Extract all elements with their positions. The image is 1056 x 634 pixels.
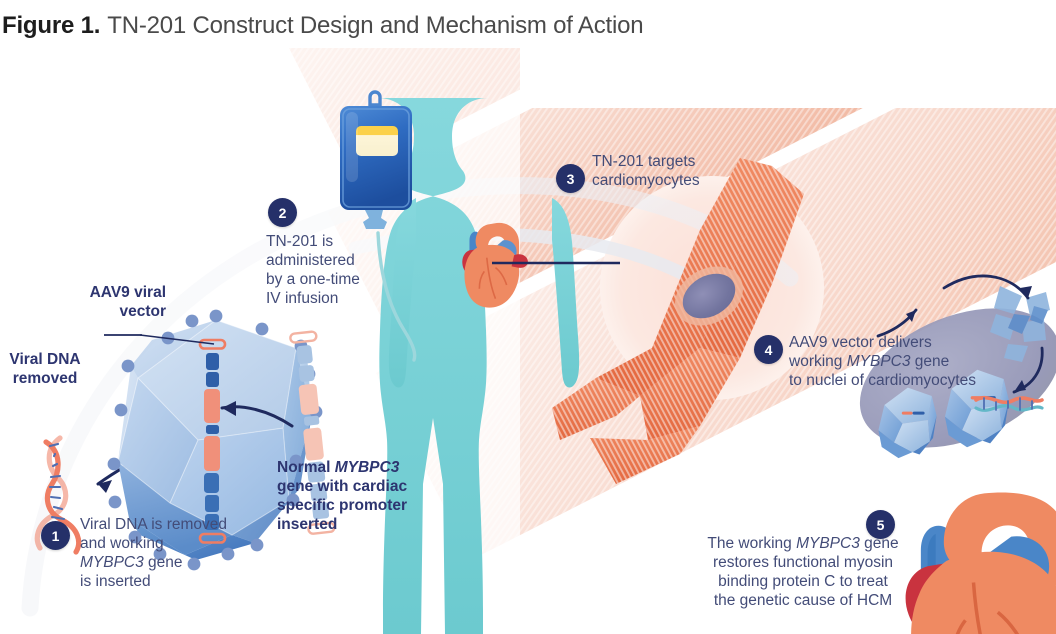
callout-line: Viral DNA is removed — [80, 516, 260, 535]
step-text-5: The working MYBPC3 generestores function… — [688, 535, 918, 611]
step-text-3: TN-201 targetscardiomyocytes — [592, 153, 752, 191]
step-badge-3-number: 3 — [567, 171, 575, 187]
figure-number: Figure 1. — [2, 12, 100, 40]
callout-line: by a one-time — [266, 271, 386, 290]
step-badge-2-number: 2 — [279, 205, 287, 221]
page-title: TN-201 Construct Design and Mechanism of… — [107, 12, 643, 40]
step-badge-2: 2 — [268, 198, 297, 227]
callout-line: TN-201 targets — [592, 153, 752, 172]
callout-line: to nuclei of cardiomyocytes — [789, 372, 1029, 391]
callout-line: the genetic cause of HCM — [688, 592, 918, 611]
step-badge-3: 3 — [556, 164, 585, 193]
callout-line: working MYBPC3 gene — [789, 353, 1029, 372]
step-text-4: AAV9 vector deliversworking MYBPC3 genet… — [789, 334, 1029, 391]
callout-line: administered — [266, 252, 386, 271]
step-badge-4: 4 — [754, 335, 783, 364]
callout-line: MYBPC3 gene — [80, 554, 260, 573]
cardiomyocyte-cell-icon — [552, 158, 804, 484]
label-viral-dna-removed-text: Viral DNA removed — [9, 351, 80, 387]
label-aav9-viral-vector-text: AAV9 viral vector — [90, 284, 166, 320]
callout-line: binding protein C to treat — [688, 573, 918, 592]
step-badge-1: 1 — [41, 521, 70, 550]
step-badge-5-number: 5 — [877, 517, 885, 533]
callout-line: restores functional myosin — [688, 554, 918, 573]
label-viral-dna-removed: Viral DNA removed — [0, 351, 90, 389]
callout-line: The working MYBPC3 gene — [688, 535, 918, 554]
heart-anatomical-large-icon — [906, 492, 1056, 634]
label-normal-gene-rest: gene with cardiac specific promoter inse… — [277, 478, 407, 533]
step-text-2: TN-201 isadministeredby a one-timeIV inf… — [266, 233, 386, 309]
figure-root: Figure 1. TN-201 Construct Design and Me… — [0, 0, 1056, 634]
callout-line: and working — [80, 535, 260, 554]
step-badge-1-number: 1 — [52, 528, 60, 544]
callout-line: is inserted — [80, 573, 260, 592]
label-normal-gene: Normal MYBPC3 gene with cardiac specific… — [277, 459, 429, 535]
label-aav9-viral-vector: AAV9 viral vector — [46, 284, 166, 322]
callout-line: IV infusion — [266, 290, 386, 309]
callout-line: cardiomyocytes — [592, 172, 752, 191]
step-text-1: Viral DNA is removedand workingMYBPC3 ge… — [80, 516, 260, 592]
label-normal-gene-italic: MYBPC3 — [335, 459, 400, 476]
callout-line: TN-201 is — [266, 233, 386, 252]
figure-title: Figure 1. TN-201 Construct Design and Me… — [0, 4, 1056, 48]
diagram-canvas: AAV9 viral vector Viral DNA removed Norm… — [0, 48, 1056, 634]
callout-line: AAV9 vector delivers — [789, 334, 1029, 353]
label-normal-gene-prefix: Normal — [277, 459, 335, 476]
step-badge-4-number: 4 — [765, 342, 773, 358]
